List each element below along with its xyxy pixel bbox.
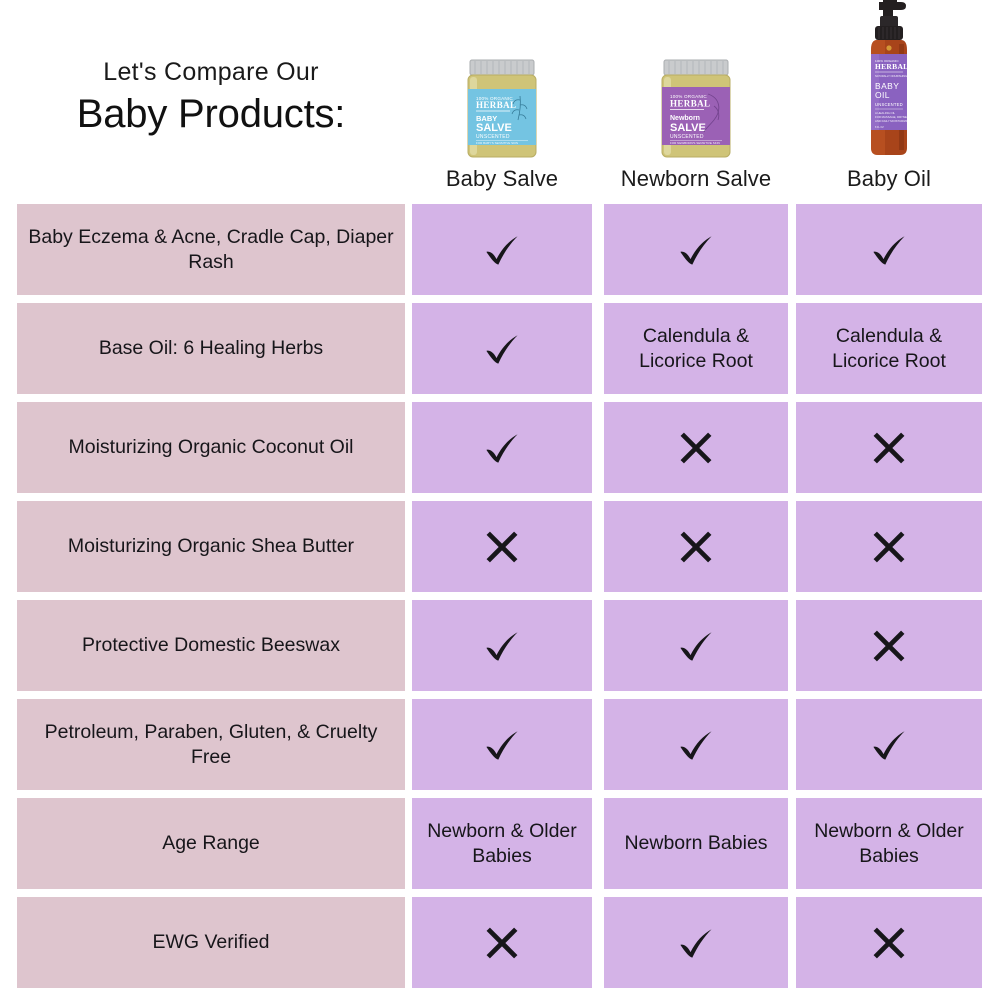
check-icon xyxy=(604,204,788,295)
check-icon xyxy=(412,699,592,790)
page-title-line2: Baby Products: xyxy=(17,89,405,139)
cross-icon xyxy=(412,897,592,988)
check-icon xyxy=(604,897,788,988)
check-icon xyxy=(796,204,982,295)
svg-text:OIL: OIL xyxy=(875,90,890,100)
cell-text: Newborn & Older Babies xyxy=(796,798,982,889)
cell-text: Calendula & Licorice Root xyxy=(796,303,982,394)
cross-icon xyxy=(867,426,911,470)
row-label: Petroleum, Paraben, Gluten, & Cruelty Fr… xyxy=(17,699,405,790)
cell-text: Newborn & Older Babies xyxy=(412,798,592,889)
cross-icon xyxy=(867,921,911,965)
svg-text:HERBAL: HERBAL xyxy=(875,62,908,71)
svg-text:HERBAL: HERBAL xyxy=(476,100,516,110)
svg-text:Newborn: Newborn xyxy=(670,115,700,122)
check-icon xyxy=(674,921,718,965)
check-icon xyxy=(674,723,718,767)
cell-text: Newborn Babies xyxy=(604,798,788,889)
cross-icon xyxy=(480,525,524,569)
comparison-table: Baby Eczema & Acne, Cradle Cap, Diaper R… xyxy=(0,198,1000,988)
product-column-header-baby-oil: 100% ORGANIC HERBAL NATURALLY NOURISHING… xyxy=(796,0,982,198)
svg-text:HERBAL: HERBAL xyxy=(670,99,710,109)
cross-icon xyxy=(604,402,788,493)
svg-text:8 FL OZ: 8 FL OZ xyxy=(875,126,884,129)
check-icon xyxy=(480,624,524,668)
page-title-line1: Let's Compare Our xyxy=(17,58,405,87)
svg-text:UNSCENTED: UNSCENTED xyxy=(670,134,704,140)
check-icon xyxy=(867,723,911,767)
cross-icon xyxy=(674,525,718,569)
svg-text:SALVE: SALVE xyxy=(476,122,512,134)
cross-icon xyxy=(480,921,524,965)
page-title: Let's Compare Our Baby Products: xyxy=(17,58,405,139)
check-icon xyxy=(412,303,592,394)
cross-icon xyxy=(412,501,592,592)
check-icon xyxy=(412,600,592,691)
check-icon xyxy=(674,624,718,668)
row-label: EWG Verified xyxy=(17,897,405,988)
check-icon xyxy=(674,228,718,272)
cross-icon xyxy=(796,897,982,988)
row-label: Moisturizing Organic Coconut Oil xyxy=(17,402,405,493)
svg-text:FOR BABY'S SENSITIVE SKIN: FOR BABY'S SENSITIVE SKIN xyxy=(476,141,518,145)
product-name-baby-salve: Baby Salve xyxy=(412,166,592,192)
cross-icon xyxy=(796,501,982,592)
check-icon xyxy=(412,402,592,493)
product-name-newborn-salve: Newborn Salve xyxy=(604,166,788,192)
cross-icon xyxy=(604,501,788,592)
svg-text:UNSCENTED: UNSCENTED xyxy=(875,102,903,107)
svg-text:SALVE: SALVE xyxy=(670,122,706,134)
product-column-header-baby-salve: 100% ORGANIC HERBAL BABY SALVE UNSCENTED… xyxy=(412,0,592,198)
cross-icon xyxy=(674,426,718,470)
row-label: Baby Eczema & Acne, Cradle Cap, Diaper R… xyxy=(17,204,405,295)
cell-text: Calendula & Licorice Root xyxy=(604,303,788,394)
svg-text:UNSCENTED: UNSCENTED xyxy=(476,134,510,140)
svg-text:FOR NEWBORN'S SENSITIVE SKIN: FOR NEWBORN'S SENSITIVE SKIN xyxy=(670,141,720,145)
check-icon xyxy=(412,204,592,295)
check-icon xyxy=(867,228,911,272)
check-icon xyxy=(480,228,524,272)
check-icon xyxy=(604,699,788,790)
check-icon xyxy=(480,426,524,470)
jar-newborn-salve-icon: 100% ORGANIC HERBAL Newborn SALVE UNSCEN… xyxy=(604,12,788,162)
row-label: Age Range xyxy=(17,798,405,889)
jar-baby-salve-icon: 100% ORGANIC HERBAL BABY SALVE UNSCENTED… xyxy=(412,12,592,162)
row-label: Base Oil: 6 Healing Herbs xyxy=(17,303,405,394)
cross-icon xyxy=(867,525,911,569)
cross-icon xyxy=(867,624,911,668)
svg-text:NATURALLY NOURISHING: NATURALLY NOURISHING xyxy=(875,74,907,78)
row-label: Protective Domestic Beeswax xyxy=(17,600,405,691)
cross-icon xyxy=(796,402,982,493)
header-zone: Let's Compare Our Baby Products: xyxy=(0,0,1000,198)
check-icon xyxy=(480,327,524,371)
check-icon xyxy=(480,723,524,767)
cross-icon xyxy=(796,600,982,691)
comparison-infographic: Let's Compare Our Baby Products: xyxy=(0,0,1000,1000)
check-icon xyxy=(604,600,788,691)
check-icon xyxy=(796,699,982,790)
svg-text:AND DAILY MOISTURIZING: AND DAILY MOISTURIZING xyxy=(875,119,911,123)
bottle-baby-oil-icon: 100% ORGANIC HERBAL NATURALLY NOURISHING… xyxy=(796,12,982,162)
product-name-baby-oil: Baby Oil xyxy=(796,166,982,192)
row-label: Moisturizing Organic Shea Butter xyxy=(17,501,405,592)
product-column-header-newborn-salve: 100% ORGANIC HERBAL Newborn SALVE UNSCEN… xyxy=(604,0,788,198)
